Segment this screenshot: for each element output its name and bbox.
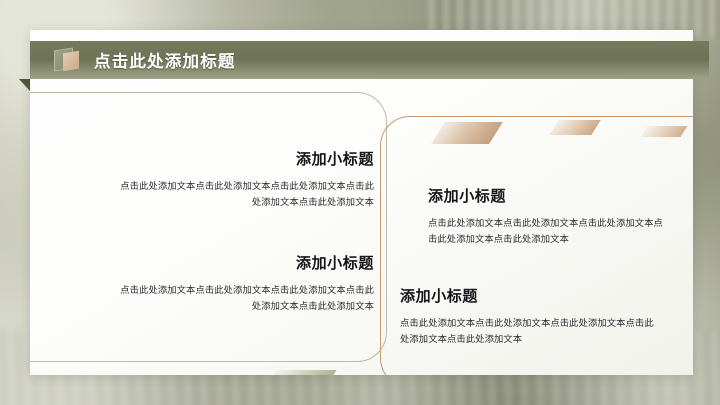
content-card: 添加小标题 点击此处添加文本点击此处添加文本点击此处添加文本点击此处添加文本点击… — [30, 30, 693, 375]
slide-title[interactable]: 点击此处添加标题 — [94, 48, 236, 72]
icon-shape-front — [63, 51, 79, 72]
title-ribbon-bar[interactable]: 点击此处添加标题 — [30, 41, 709, 79]
content-block-4[interactable]: 添加小标题 点击此处添加文本点击此处添加文本点击此处添加文本点击此处添加文本点击… — [400, 285, 656, 348]
decorative-parallelogram-top-3 — [641, 126, 688, 137]
content-block-2[interactable]: 添加小标题 点击此处添加文本点击此处添加文本点击此处添加文本点击此处添加文本点击… — [118, 252, 374, 315]
body-text-2[interactable]: 点击此处添加文本点击此处添加文本点击此处添加文本点击此处添加文本点击此处添加文本 — [118, 283, 374, 315]
content-block-3[interactable]: 添加小标题 点击此处添加文本点击此处添加文本点击此处添加文本点击此处添加文本点击… — [428, 185, 672, 248]
body-text-4[interactable]: 点击此处添加文本点击此处添加文本点击此处添加文本点击此处添加文本点击此处添加文本 — [400, 316, 656, 348]
content-block-1[interactable]: 添加小标题 点击此处添加文本点击此处添加文本点击此处添加文本点击此处添加文本点击… — [118, 148, 374, 211]
subtitle-heading-2[interactable]: 添加小标题 — [118, 252, 374, 273]
body-text-3[interactable]: 点击此处添加文本点击此处添加文本点击此处添加文本点击此处添加文本点击此处添加文本 — [428, 216, 672, 248]
presentation-slide: 添加小标题 点击此处添加文本点击此处添加文本点击此处添加文本点击此处添加文本点击… — [0, 0, 720, 405]
subtitle-heading-4[interactable]: 添加小标题 — [400, 285, 656, 306]
body-text-1[interactable]: 点击此处添加文本点击此处添加文本点击此处添加文本点击此处添加文本点击此处添加文本 — [118, 179, 374, 211]
parallelogram-pair-icon — [54, 49, 80, 71]
ribbon-fold-shadow — [19, 79, 30, 91]
subtitle-heading-3[interactable]: 添加小标题 — [428, 185, 672, 206]
decorative-rounded-rect-left — [30, 92, 387, 362]
decorative-parallelogram-bottom-1 — [263, 370, 336, 375]
subtitle-heading-1[interactable]: 添加小标题 — [118, 148, 374, 169]
